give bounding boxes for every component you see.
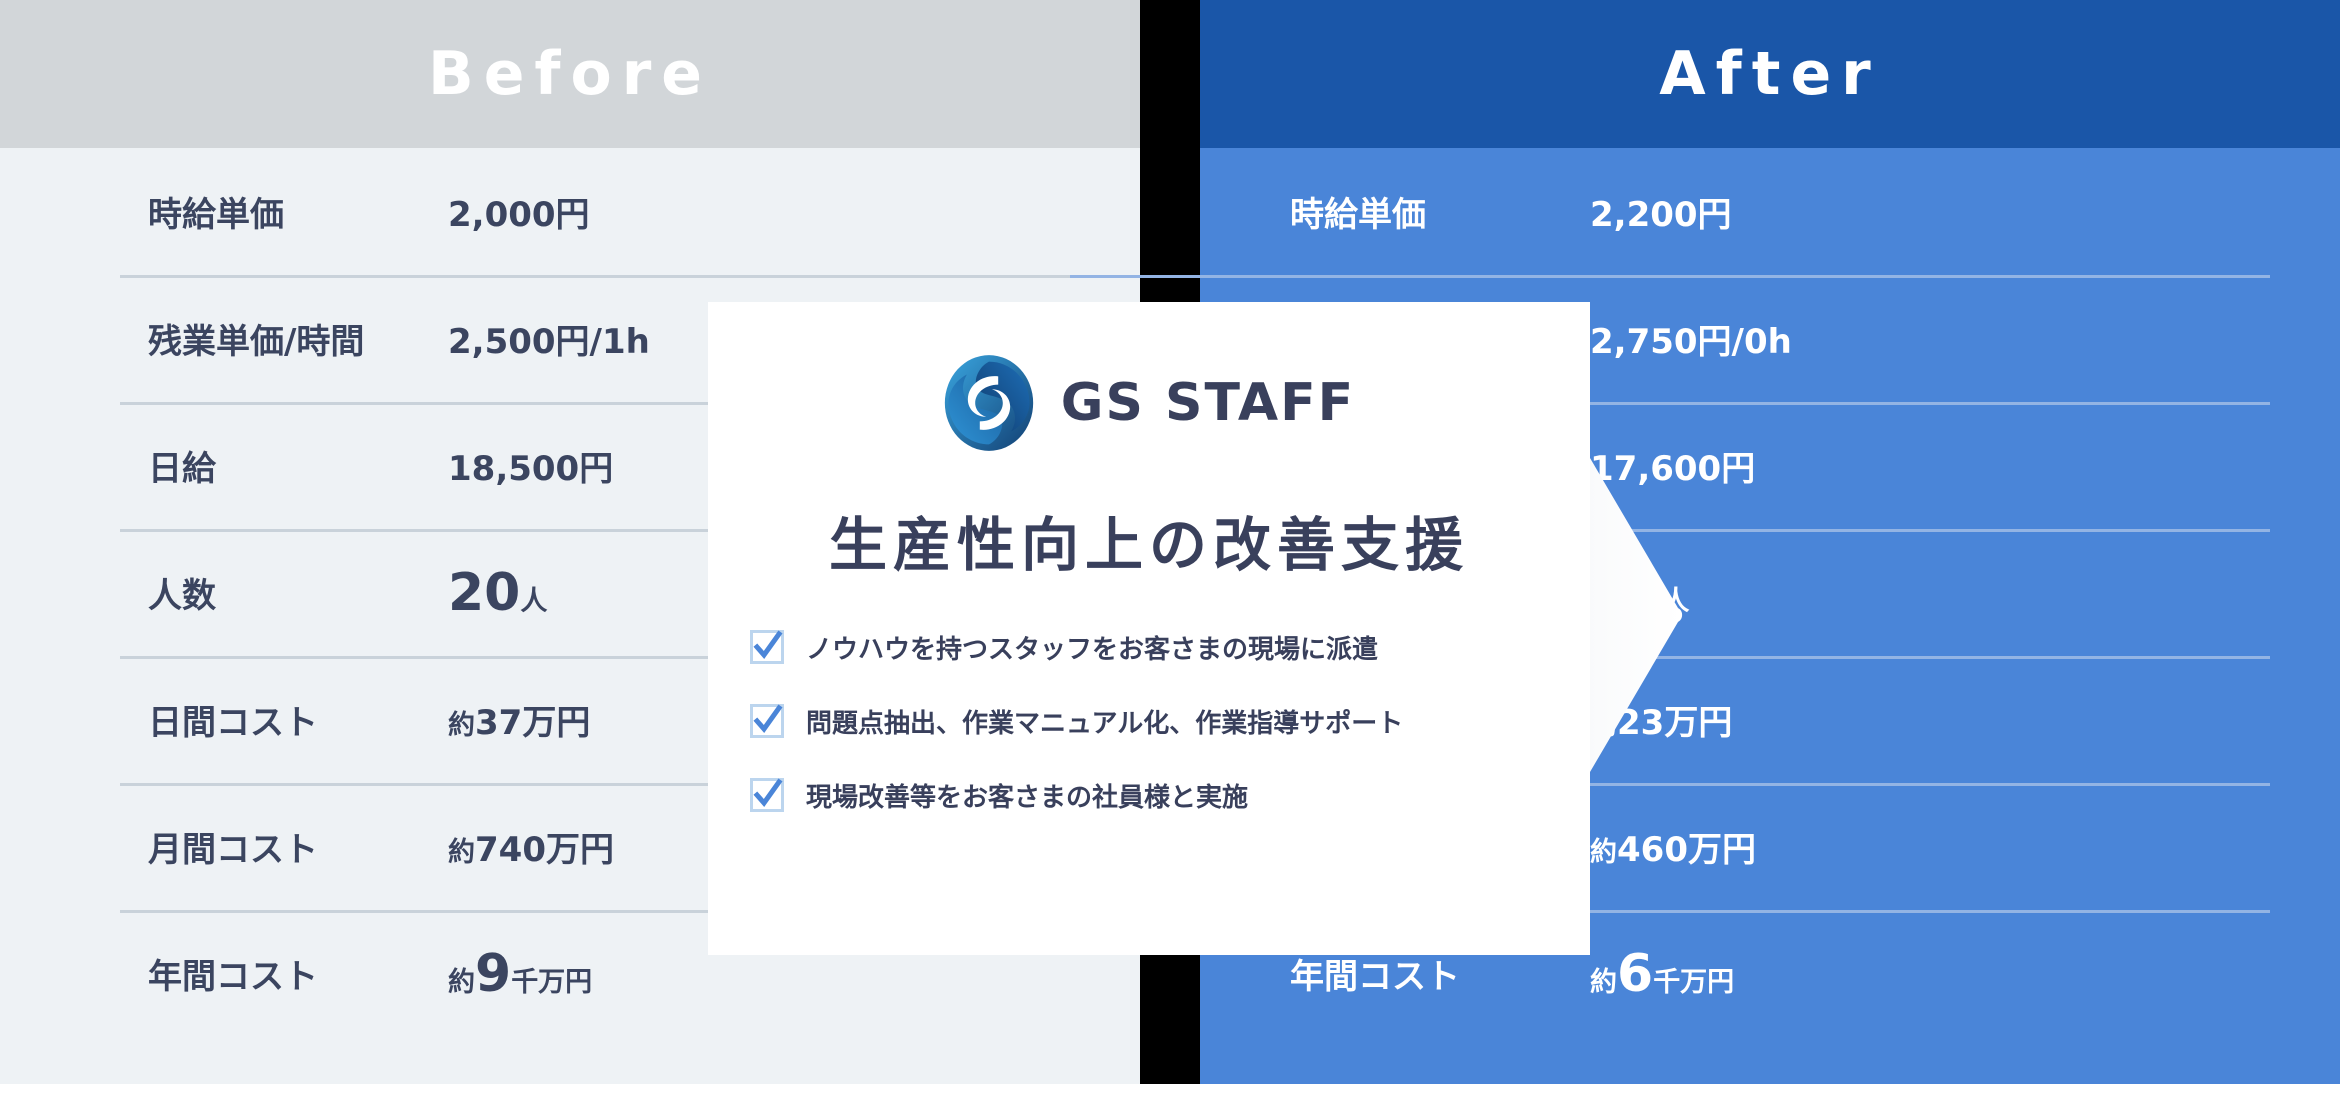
row-value-prefix: 約 (448, 837, 475, 868)
row-label: 月間コスト (148, 822, 448, 871)
list-item-label: 現場改善等をお客さまの社員様と実施 (806, 777, 1248, 814)
list-item: 現場改善等をお客さまの社員様と実施 (750, 758, 1560, 832)
row-label: 時給単価 (148, 187, 448, 236)
row-value-amount: 37万円 (475, 703, 590, 743)
gs-swirl-logo-icon (943, 354, 1035, 452)
card-title: 生産性向上の改善支援 (708, 498, 1590, 582)
list-item: 問題点抽出、作業マニュアル化、作業指導サポート (750, 684, 1560, 758)
row-label: 残業単価/時間 (148, 314, 448, 363)
row-value-unit: 千万円 (1653, 967, 1734, 998)
row-value-prefix: 約 (448, 710, 475, 741)
row-value-number: 20 (448, 563, 520, 623)
brand-logo-text: GS STAFF (1061, 373, 1355, 433)
before-panel-title: Before (0, 26, 1140, 122)
row-value: 約740万円 (448, 822, 614, 871)
list-item-label: ノウハウを持つスタッフをお客さまの現場に派遣 (806, 629, 1378, 666)
bottom-white-strip (0, 1084, 2340, 1120)
row-label: 時給単価 (1290, 187, 1590, 236)
center-info-card: GS STAFF 生産性向上の改善支援 ノウハウを持つスタッフをお客さまの現場に… (708, 302, 1590, 955)
row-label: 日給 (148, 441, 448, 490)
row-value: 2,000円 (448, 187, 590, 236)
row-value-amount: 460万円 (1617, 830, 1756, 870)
checkbox-checked-icon (750, 630, 784, 664)
row-value: 18,500円 (448, 441, 613, 490)
row-value-prefix: 約 (1590, 837, 1617, 868)
row-label: 年間コスト (148, 949, 448, 998)
row-value: 20人 (448, 567, 547, 619)
feature-check-list: ノウハウを持つスタッフをお客さまの現場に派遣 問題点抽出、作業マニュアル化、作業… (750, 610, 1560, 832)
row-value: 2,200円 (1590, 187, 1732, 236)
row-value-unit: 千万円 (511, 967, 592, 998)
row-value: 約37万円 (448, 695, 590, 744)
row-value: 約460万円 (1590, 822, 1756, 871)
row-value: 約9千万円 (448, 948, 592, 1000)
row-value-prefix: 約 (448, 967, 475, 998)
row-value: 約6千万円 (1590, 948, 1734, 1000)
checkbox-checked-icon (750, 704, 784, 738)
row-label: 人数 (148, 568, 448, 617)
checkbox-checked-icon (750, 778, 784, 812)
list-item-label: 問題点抽出、作業マニュアル化、作業指導サポート (806, 703, 1403, 740)
table-row: 時給単価 2,200円 (1200, 148, 2340, 275)
after-panel-title: After (1200, 26, 2340, 122)
row-value-number: 6 (1617, 944, 1653, 1004)
row-value-amount: 740万円 (475, 830, 614, 870)
list-item: ノウハウを持つスタッフをお客さまの現場に派遣 (750, 610, 1560, 684)
table-row: 時給単価 2,000円 (0, 148, 1140, 275)
row-value: 2,500円/1h (448, 314, 650, 363)
row-value-unit: 人 (520, 586, 547, 617)
brand-logo: GS STAFF (708, 354, 1590, 452)
row-value-number: 9 (475, 944, 511, 1004)
row-value: 2,750円/0h (1590, 314, 1792, 363)
row-label: 日間コスト (148, 695, 448, 744)
row-label: 年間コスト (1290, 949, 1590, 998)
row-value-prefix: 約 (1590, 967, 1617, 998)
